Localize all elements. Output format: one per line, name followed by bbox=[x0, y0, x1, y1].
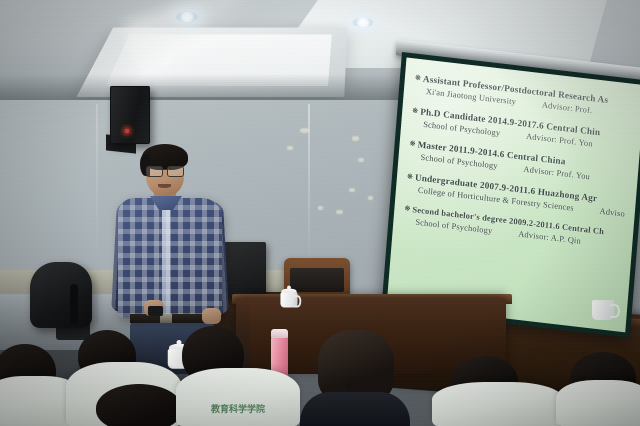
slide-surface: ※Assistant Professor/Postdoctoral Resear… bbox=[387, 58, 640, 333]
chair-cover bbox=[556, 380, 640, 426]
presenter-mouth bbox=[158, 184, 171, 188]
wall-speaker-icon bbox=[110, 86, 150, 144]
slide-bullet-icon: ※ bbox=[412, 107, 419, 116]
backpack-icon bbox=[30, 262, 92, 328]
chair-cover: 教育科学学院 bbox=[176, 368, 300, 426]
attendee-shoulders bbox=[300, 392, 410, 426]
teacup-handle bbox=[294, 295, 302, 307]
wall-scuff bbox=[368, 196, 373, 200]
teacup-knob bbox=[177, 340, 182, 345]
eyeglasses-icon bbox=[146, 166, 184, 175]
ceiling-light-icon bbox=[176, 12, 198, 22]
thermos-cap bbox=[271, 329, 288, 338]
wall-scuff bbox=[318, 206, 323, 210]
chair-cover-text: 教育科学学院 bbox=[211, 402, 265, 415]
wall-scuff bbox=[287, 146, 293, 150]
attendee-head bbox=[96, 384, 182, 426]
teacup-knob bbox=[287, 286, 291, 290]
wall-scuff bbox=[352, 136, 359, 141]
eyeglass-lens-left bbox=[146, 166, 163, 177]
wall-scuff bbox=[349, 188, 355, 192]
speaker-power-led-icon bbox=[125, 129, 129, 133]
slide-bullet-icon: ※ bbox=[415, 74, 422, 83]
slide-bullet-icon: ※ bbox=[404, 204, 411, 213]
lecture-room-photo: ※Assistant Professor/Postdoctoral Resear… bbox=[0, 0, 640, 426]
eyeglass-lens-right bbox=[167, 166, 184, 177]
wall-scuff bbox=[336, 210, 343, 214]
teacup-icon bbox=[280, 287, 297, 308]
ceiling-light-icon bbox=[352, 18, 374, 27]
wall-scuff bbox=[300, 128, 309, 133]
slide-bullet-icon: ※ bbox=[409, 139, 416, 148]
mug-icon bbox=[592, 300, 614, 320]
slide-bullet-icon: ※ bbox=[407, 172, 414, 181]
wall-scuff bbox=[358, 158, 364, 162]
chair-cover bbox=[432, 382, 564, 426]
